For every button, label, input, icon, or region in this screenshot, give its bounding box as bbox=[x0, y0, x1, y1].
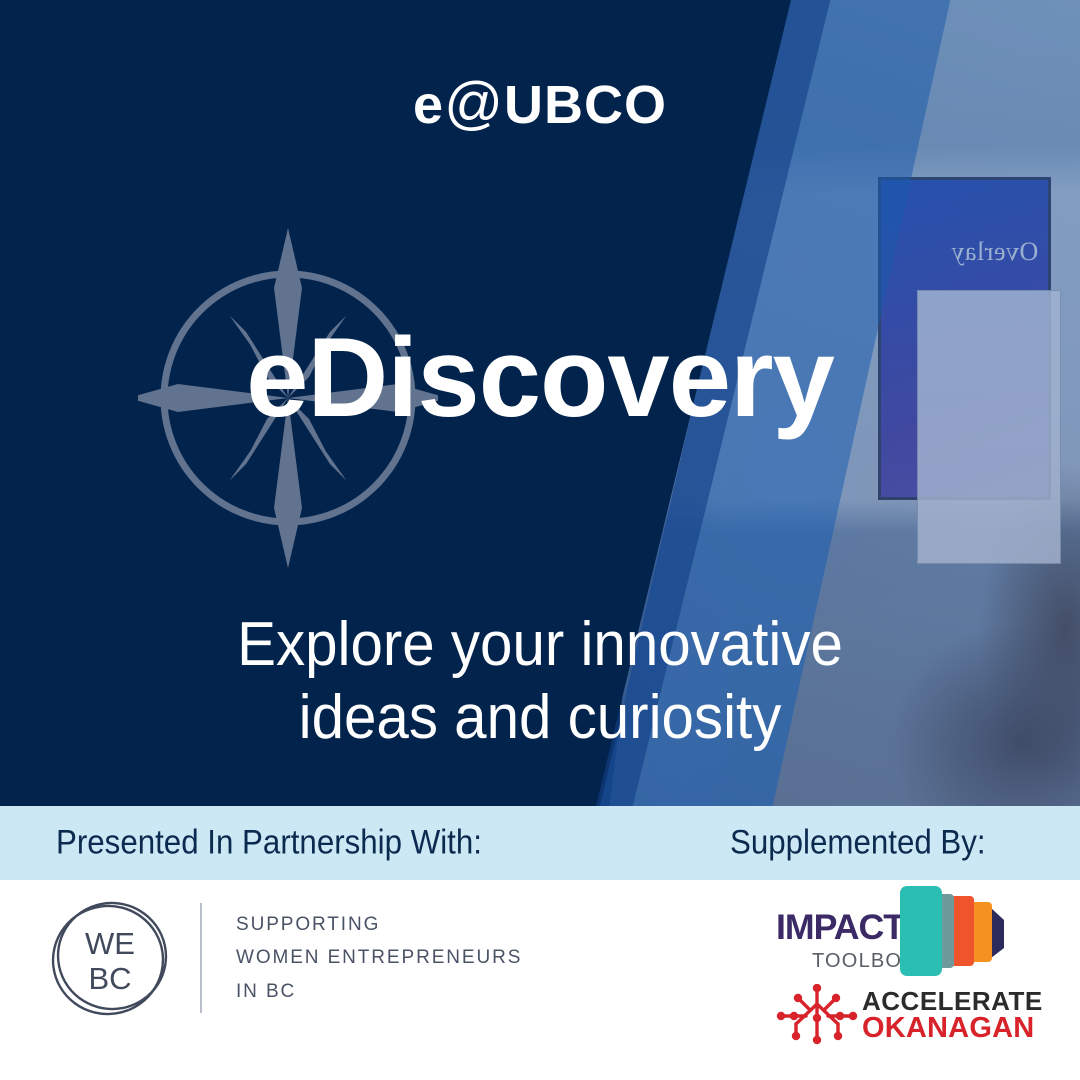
brand-prefix: e bbox=[413, 75, 444, 135]
webc-circle-mark: WE BC bbox=[46, 894, 174, 1022]
brand-suffix: UBCO bbox=[504, 75, 667, 135]
impact-toolbox-cards-icon bbox=[896, 884, 1008, 980]
accelerate-line-1: ACCELERATE bbox=[862, 988, 1043, 1015]
presented-in-partnership-label: Presented In Partnership With: bbox=[56, 824, 482, 863]
webc-tagline-line-1: SUPPORTING bbox=[236, 908, 522, 941]
brand-logo: e@UBCO bbox=[0, 70, 1080, 137]
tagline-line-2: ideas and curiosity bbox=[32, 681, 1047, 754]
supplemented-by-label: Supplemented By: bbox=[730, 824, 986, 863]
tagline-line-1: Explore your innovative bbox=[32, 608, 1047, 681]
partner-strip: Presented In Partnership With: Supplemen… bbox=[0, 806, 1080, 880]
accelerate-okanagan-wordmark: ACCELERATE OKANAGAN bbox=[862, 988, 1043, 1044]
svg-text:WE: WE bbox=[85, 926, 135, 961]
at-symbol-icon: @ bbox=[444, 71, 504, 136]
webc-divider bbox=[200, 903, 202, 1013]
tagline: Explore your innovative ideas and curios… bbox=[32, 608, 1047, 754]
promotional-poster: Overlay bbox=[0, 0, 1080, 1080]
accelerate-network-icon bbox=[776, 984, 858, 1048]
webc-tagline: SUPPORTING WOMEN ENTREPRENEURS IN BC bbox=[236, 908, 522, 1008]
webc-tagline-line-3: IN BC bbox=[236, 975, 522, 1008]
logo-area: WE BC SUPPORTING WOMEN ENTREPRENEURS IN … bbox=[0, 880, 1080, 1080]
webc-logo[interactable]: WE BC SUPPORTING WOMEN ENTREPRENEURS IN … bbox=[46, 894, 522, 1022]
svg-text:BC: BC bbox=[88, 961, 131, 996]
accelerate-okanagan-logo[interactable]: ACCELERATE OKANAGAN bbox=[776, 984, 1043, 1048]
webc-tagline-line-2: WOMEN ENTREPRENEURS bbox=[236, 941, 522, 974]
brand-logo-text: e@UBCO bbox=[413, 70, 667, 137]
hero-section: Overlay bbox=[0, 0, 1080, 806]
page-title: eDiscovery bbox=[0, 322, 1080, 434]
wall-screen-label: Overlay bbox=[951, 237, 1038, 267]
impact-toolbox-logo[interactable]: IMPACT TOOLBOX bbox=[776, 884, 1006, 980]
accelerate-line-2: OKANAGAN bbox=[862, 1014, 1043, 1044]
